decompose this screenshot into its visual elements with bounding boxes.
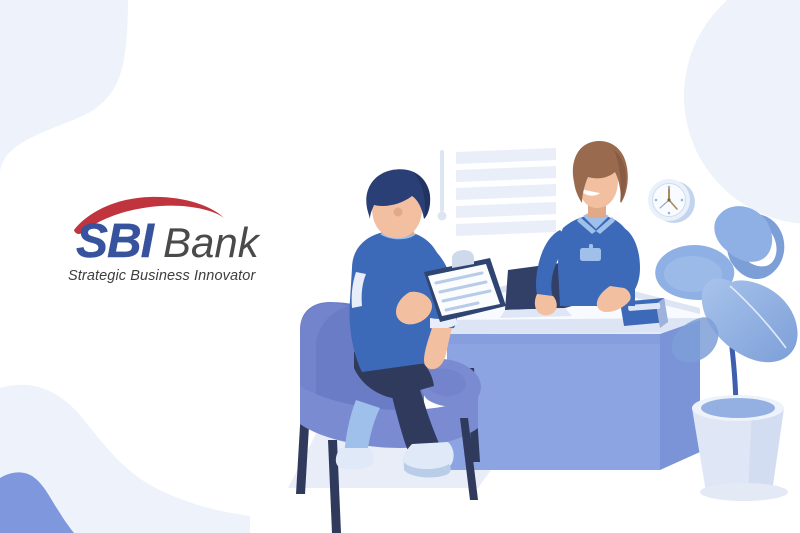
name-badge	[580, 248, 601, 261]
plant-leaf-right	[702, 278, 798, 362]
logo-brand-primary: SBI	[76, 215, 153, 268]
logo-wordmark: SBIBank	[76, 218, 259, 266]
plant-pot-shade	[748, 408, 784, 492]
customer-shoe-far	[336, 448, 374, 469]
logo-brand-secondary: Bank	[163, 219, 259, 266]
customer-ear	[394, 208, 403, 217]
plant-pot-shadow	[700, 483, 788, 501]
window-blinds	[438, 148, 557, 236]
logo-tagline: Strategic Business Innovator	[68, 268, 255, 284]
brand-logo: SBIBank Strategic Business Innovator	[60, 196, 290, 292]
plant-pot-soil	[701, 398, 775, 418]
illustration-canvas: SBIBank Strategic Business Innovator	[0, 0, 800, 533]
clerk-hand-left	[535, 294, 557, 315]
wall-clock	[648, 179, 695, 223]
